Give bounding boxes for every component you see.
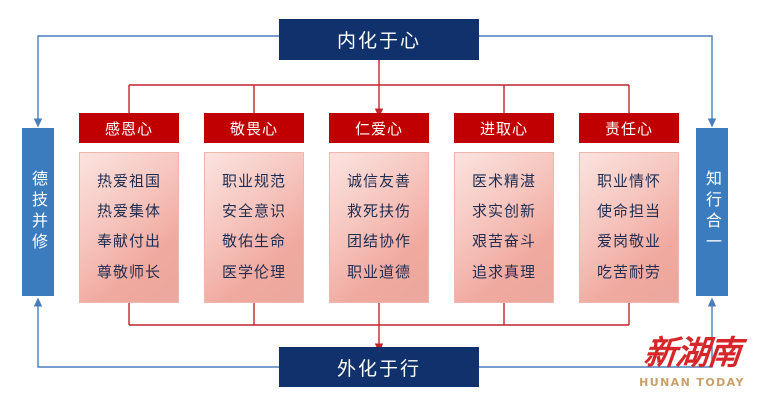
column-item: 安全意识 (222, 204, 286, 220)
column-header-1[interactable]: 感恩心 (79, 113, 179, 143)
column-body-2: 职业规范 安全意识 敬佑生命 医学伦理 (204, 152, 304, 303)
column-item: 追求真理 (472, 265, 536, 281)
column-item: 职业道德 (347, 265, 411, 281)
column-header-label: 进取心 (480, 118, 528, 139)
column-item: 热爱集体 (97, 204, 161, 220)
column-body-4: 医术精湛 求实创新 艰苦奋斗 追求真理 (454, 152, 554, 303)
hunan-today-logo: 新湖南 HUNAN TODAY (630, 336, 754, 394)
logo-chinese-text: 新湖南 (628, 332, 756, 374)
column-item: 尊敬师长 (97, 265, 161, 281)
column-item: 医术精湛 (472, 174, 536, 190)
column-item: 医学伦理 (222, 265, 286, 281)
bottom-box-label: 外化于行 (337, 354, 421, 381)
column-item: 吃苦耐劳 (597, 265, 661, 281)
column-item: 爱岗敬业 (597, 234, 661, 250)
column-header-label: 感恩心 (105, 118, 153, 139)
column-body-1: 热爱祖国 热爱集体 奉献付出 尊敬师长 (79, 152, 179, 303)
column-header-3[interactable]: 仁爱心 (329, 113, 429, 143)
column-header-5[interactable]: 责任心 (579, 113, 679, 143)
column-item: 求实创新 (472, 204, 536, 220)
column-item: 团结协作 (347, 234, 411, 250)
column-body-3: 诚信友善 救死扶伤 团结协作 职业道德 (329, 152, 429, 303)
column-item: 职业规范 (222, 174, 286, 190)
column-item: 诚信友善 (347, 174, 411, 190)
column-header-label: 责任心 (605, 118, 653, 139)
column-header-2[interactable]: 敬畏心 (204, 113, 304, 143)
top-box-label: 内化于心 (337, 26, 421, 53)
right-box[interactable]: 知行合一 (696, 128, 728, 296)
left-box-label: 德技并修 (30, 170, 46, 254)
left-box[interactable]: 德技并修 (22, 128, 54, 296)
column-item: 职业情怀 (597, 174, 661, 190)
column-header-label: 仁爱心 (355, 118, 403, 139)
column-item: 奉献付出 (97, 234, 161, 250)
column-header-4[interactable]: 进取心 (454, 113, 554, 143)
column-header-label: 敬畏心 (230, 118, 278, 139)
diagram-canvas: 内化于心 外化于行 德技并修 知行合一 感恩心 热爱祖国 热爱集体 奉献付出 尊… (0, 0, 759, 402)
column-item: 敬佑生命 (222, 234, 286, 250)
column-item: 艰苦奋斗 (472, 234, 536, 250)
right-box-label: 知行合一 (704, 170, 720, 254)
column-item: 救死扶伤 (347, 204, 411, 220)
top-box[interactable]: 内化于心 (279, 19, 479, 60)
logo-english-text: HUNAN TODAY (630, 376, 754, 389)
column-item: 使命担当 (597, 204, 661, 220)
bottom-box[interactable]: 外化于行 (279, 347, 479, 387)
column-body-5: 职业情怀 使命担当 爱岗敬业 吃苦耐劳 (579, 152, 679, 303)
column-item: 热爱祖国 (97, 174, 161, 190)
